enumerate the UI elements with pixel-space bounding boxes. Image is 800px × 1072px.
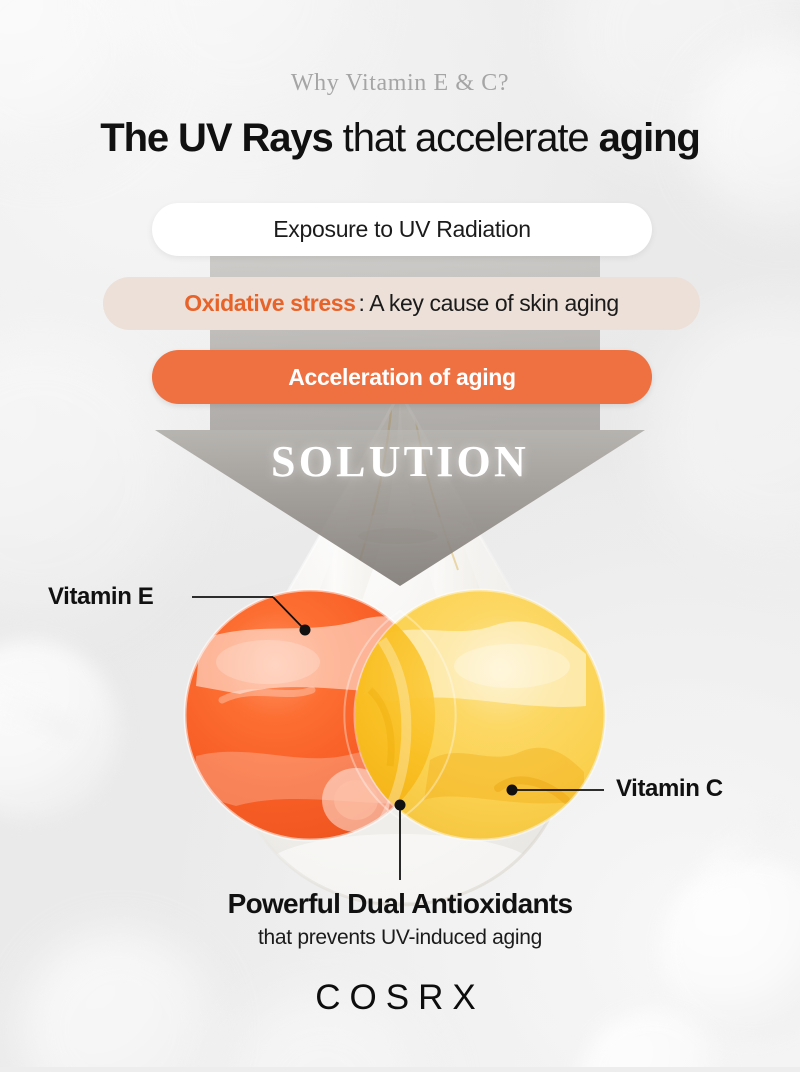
- caption-subtext: that prevents UV-induced aging: [0, 926, 800, 950]
- flow-step-exposure-label: Exposure to UV Radiation: [273, 216, 530, 243]
- caption-headline: Powerful Dual Antioxidants: [0, 888, 800, 920]
- brand-logo: COSRX: [0, 978, 800, 1018]
- page-title: The UV Rays that accelerate aging: [0, 116, 800, 161]
- oxidative-stress-highlight: Oxidative stress: [184, 290, 355, 317]
- header: Why Vitamin E & C? The UV Rays that acce…: [0, 0, 800, 161]
- headline-bold-start: The UV Rays: [100, 116, 332, 160]
- flow-step-acceleration-label: Acceleration of aging: [288, 364, 516, 391]
- eyebrow-text: Why Vitamin E & C?: [0, 70, 800, 97]
- flow-step-oxidative-stress[interactable]: Oxidative stress : A key cause of skin a…: [103, 277, 700, 330]
- headline-regular: that accelerate: [333, 116, 599, 160]
- vitamin-spheres: [185, 590, 605, 840]
- solution-label: SOLUTION: [0, 436, 800, 487]
- callout-vitamin-c: Vitamin C: [616, 775, 723, 803]
- flow-step-exposure[interactable]: Exposure to UV Radiation: [152, 203, 652, 256]
- callout-vitamin-e: Vitamin E: [48, 583, 153, 611]
- flow-step-acceleration[interactable]: Acceleration of aging: [152, 350, 652, 404]
- bottom-caption: Powerful Dual Antioxidants that prevents…: [0, 888, 800, 950]
- headline-bold-end: aging: [599, 116, 700, 160]
- oxidative-stress-rest: : A key cause of skin aging: [359, 290, 619, 317]
